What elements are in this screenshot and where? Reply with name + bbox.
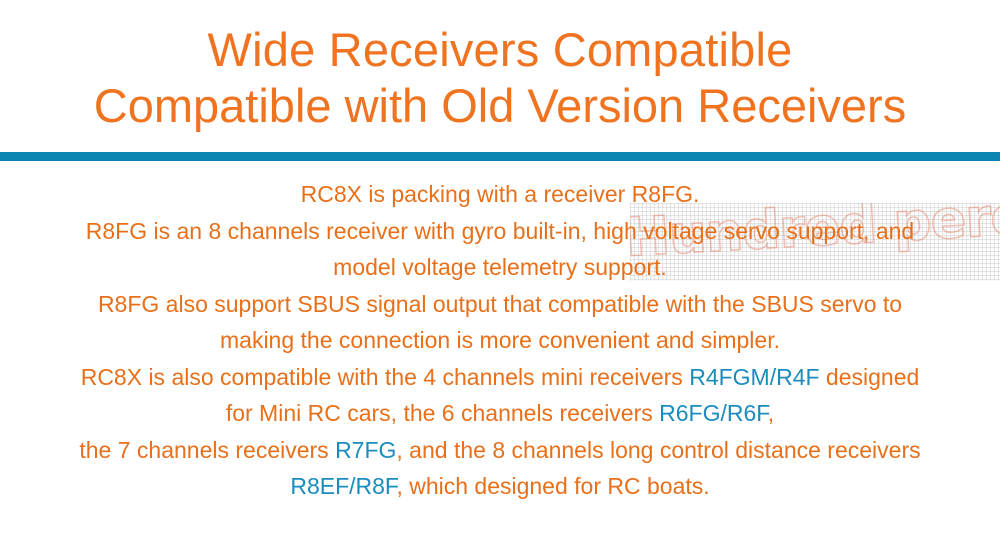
model-name-highlight: R4FGM/R4F xyxy=(689,364,819,390)
model-name-highlight: R7FG xyxy=(335,437,396,463)
description-line: R8EF/R8F, which designed for RC boats. xyxy=(0,468,1000,505)
description-line: R8FG also support SBUS signal output tha… xyxy=(0,286,1000,323)
description-line: RC8X is packing with a receiver R8FG. xyxy=(0,176,1000,213)
model-name-highlight: R6FG/R6F xyxy=(659,400,768,426)
description-text-segment: , and the 8 channels long control distan… xyxy=(396,437,920,463)
description-text: RC8X is packing with a receiver R8FG.R8F… xyxy=(0,176,1000,505)
description-line: for Mini RC cars, the 6 channels receive… xyxy=(0,395,1000,432)
divider-rule xyxy=(0,152,1000,161)
description-text-segment: the 7 channels receivers xyxy=(79,437,335,463)
title-line-2: Compatible with Old Version Receivers xyxy=(0,78,1000,134)
page-title: Wide Receivers Compatible Compatible wit… xyxy=(0,22,1000,134)
description-text-segment: , xyxy=(768,400,774,426)
model-name-highlight: R8EF/R8F xyxy=(290,473,396,499)
description-text-segment: making the connection is more convenient… xyxy=(220,327,780,353)
title-line-1: Wide Receivers Compatible xyxy=(0,22,1000,78)
description-text-segment: R8FG is an 8 channels receiver with gyro… xyxy=(86,218,914,244)
description-line: model voltage telemetry support. xyxy=(0,249,1000,286)
description-text-segment: RC8X is packing with a receiver R8FG. xyxy=(301,181,700,207)
description-text-segment: R8FG also support SBUS signal output tha… xyxy=(98,291,902,317)
description-line: RC8X is also compatible with the 4 chann… xyxy=(0,359,1000,396)
description-line: R8FG is an 8 channels receiver with gyro… xyxy=(0,213,1000,250)
description-text-segment: for Mini RC cars, the 6 channels receive… xyxy=(226,400,659,426)
description-text-segment: RC8X is also compatible with the 4 chann… xyxy=(81,364,690,390)
description-line: making the connection is more convenient… xyxy=(0,322,1000,359)
description-text-segment: designed xyxy=(820,364,920,390)
description-text-segment: model voltage telemetry support. xyxy=(333,254,667,280)
description-line: the 7 channels receivers R7FG, and the 8… xyxy=(0,432,1000,469)
promo-banner: Wide Receivers Compatible Compatible wit… xyxy=(0,0,1000,548)
description-text-segment: , which designed for RC boats. xyxy=(396,473,709,499)
